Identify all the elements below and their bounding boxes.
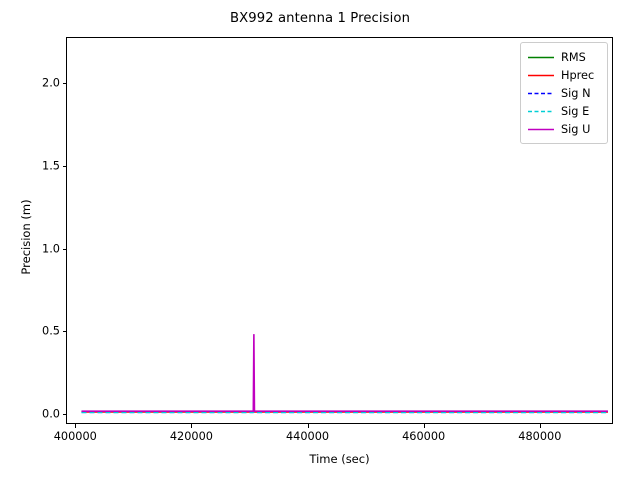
y-tick-mark: [63, 83, 67, 84]
y-tick-mark: [63, 414, 67, 415]
legend-item-sig-u: Sig U: [527, 120, 601, 138]
series-line-sig-u: [81, 334, 607, 411]
y-tick-label: 0.0: [18, 408, 60, 421]
x-tick-label: 400000: [54, 430, 97, 443]
legend-label: Sig N: [561, 87, 591, 100]
chart-figure: BX992 antenna 1 Precision 40000042000044…: [0, 0, 640, 480]
x-tick-mark: [424, 424, 425, 428]
legend-label: Hprec: [561, 69, 594, 82]
x-tick-mark: [540, 424, 541, 428]
legend-item-sig-n: Sig N: [527, 84, 601, 102]
legend-label: RMS: [561, 51, 586, 64]
y-tick-mark: [63, 249, 67, 250]
x-tick-label: 440000: [286, 430, 329, 443]
legend-swatch-icon: [527, 124, 555, 135]
legend-swatch-icon: [527, 88, 555, 99]
x-tick-mark: [75, 424, 76, 428]
legend-item-rms: RMS: [527, 48, 601, 66]
x-tick-label: 420000: [170, 430, 213, 443]
chart-title: BX992 antenna 1 Precision: [0, 11, 640, 26]
x-axis-label: Time (sec): [66, 452, 613, 466]
legend-swatch-icon: [527, 52, 555, 63]
x-tick-label: 460000: [402, 430, 445, 443]
x-tick-mark: [191, 424, 192, 428]
legend-item-sig-e: Sig E: [527, 102, 601, 120]
y-tick-mark: [63, 166, 67, 167]
x-tick-label: 480000: [518, 430, 561, 443]
legend-swatch-icon: [527, 106, 555, 117]
y-tick-label: 2.0: [18, 77, 60, 90]
legend-label: Sig U: [561, 123, 590, 136]
legend-swatch-icon: [527, 70, 555, 81]
legend-label: Sig E: [561, 105, 589, 118]
chart-legend: RMSHprecSig NSig ESig U: [520, 42, 608, 144]
x-tick-mark: [308, 424, 309, 428]
y-axis-label: Precision (m): [19, 137, 33, 337]
legend-item-hprec: Hprec: [527, 66, 601, 84]
y-tick-mark: [63, 331, 67, 332]
